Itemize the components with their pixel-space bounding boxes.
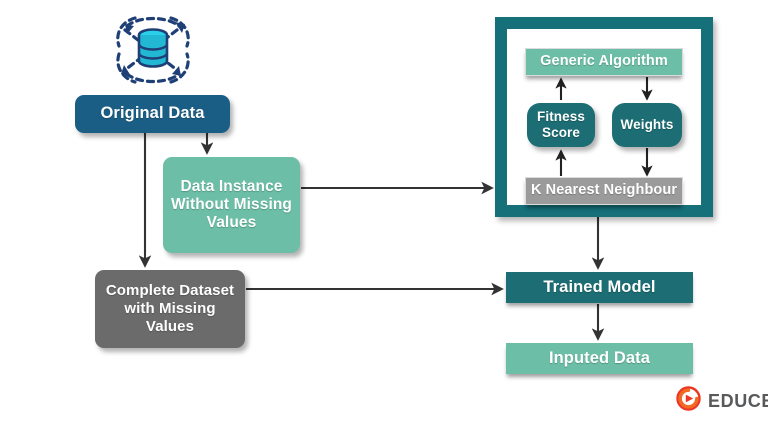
educba-swirl-icon [676,386,701,416]
model-container-inner: Generic Algorithm Fitness Score Weights … [507,29,701,205]
node-generic-algorithm[interactable]: Generic Algorithm [525,48,683,76]
model-container: Generic Algorithm Fitness Score Weights … [495,17,713,217]
node-complete-dataset-line-3: Values [146,318,194,335]
node-fitness-score[interactable]: Fitness Score [527,103,595,147]
diagram-canvas: Original Data Data Instance Without Miss… [0,0,768,427]
node-fitness-score-line-2: Score [542,125,580,140]
node-weights[interactable]: Weights [612,103,682,147]
educba-wordmark: EDUCBA [708,391,768,412]
node-trained-model[interactable]: Trained Model [506,272,693,303]
node-complete-dataset-line-1: Complete Dataset [106,282,234,299]
node-data-instance[interactable]: Data Instance Without Missing Values [163,157,300,253]
node-knn[interactable]: K Nearest Neighbour [525,177,683,205]
node-fitness-score-line-1: Fitness [537,109,585,124]
node-complete-dataset-line-2: with Missing [124,300,215,317]
educba-logo: EDUCBA [676,386,768,416]
node-data-instance-line-1: Data Instance [180,178,282,195]
node-original-data[interactable]: Original Data [75,95,230,133]
node-inputed-data[interactable]: Inputed Data [506,343,693,374]
node-data-instance-line-2: Without Missing [171,196,292,213]
node-complete-dataset[interactable]: Complete Dataset with Missing Values [95,270,245,348]
node-data-instance-line-3: Values [207,214,257,231]
